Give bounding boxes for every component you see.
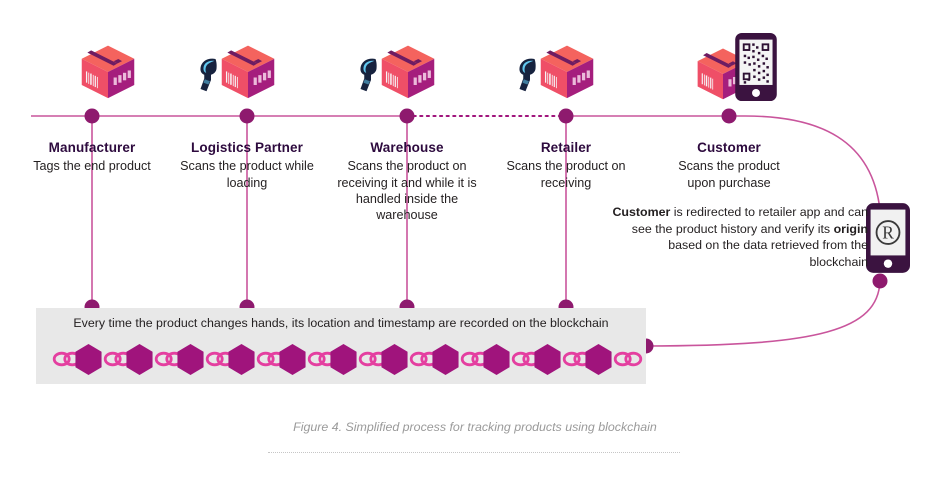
scanner-icon-warehouse <box>360 59 376 92</box>
blockchain-chain-strip <box>36 340 646 380</box>
flow-curve-to-blockchain <box>646 281 880 346</box>
hexagon-block-icon <box>228 344 254 375</box>
stage-title: Customer <box>639 139 819 157</box>
hexagon-block-icon <box>381 344 407 375</box>
stage-desc: Scans the product while loading <box>157 158 337 191</box>
stage-title: Logistics Partner <box>157 139 337 157</box>
package-box-icon-customer <box>698 48 749 99</box>
dot-logistics-partner <box>240 109 255 124</box>
figure-caption: Figure 4. Simplified process for trackin… <box>0 420 950 434</box>
package-box-icon-warehouse <box>382 46 435 99</box>
chain-link-icon <box>615 353 641 365</box>
stage-warehouse: Warehouse Scans the product on receiving… <box>317 139 497 224</box>
package-box-icon-retailer <box>541 46 594 99</box>
hexagon-block-icon <box>126 344 152 375</box>
hexagon-block-icon <box>330 344 356 375</box>
scanner-icon-retailer <box>519 59 535 92</box>
scanner-icon-logistics <box>200 59 216 92</box>
caption-divider <box>268 452 680 453</box>
dot-retailer-app <box>873 274 888 289</box>
customer-note-emphasis: origin <box>834 222 868 236</box>
phone-registered-trademark-icon <box>866 203 910 273</box>
stage-title: Retailer <box>476 139 656 157</box>
stage-customer: Customer Scans the product upon purchase <box>639 139 819 191</box>
dot-retailer <box>559 109 574 124</box>
stage-logistics-partner: Logistics Partner Scans the product whil… <box>157 139 337 191</box>
customer-note-lead: Customer <box>612 205 670 219</box>
stage-title: Warehouse <box>317 139 497 157</box>
hexagon-block-icon <box>534 344 560 375</box>
dot-manufacturer <box>85 109 100 124</box>
phone-qr-icon-customer <box>735 33 777 101</box>
blockchain-bar: Every time the product changes hands, it… <box>36 308 646 384</box>
hexagon-block-icon <box>75 344 101 375</box>
hexagon-block-icon <box>585 344 611 375</box>
package-box-icon-logistics <box>222 46 275 99</box>
stage-desc: Tags the end product <box>2 158 182 174</box>
stage-retailer: Retailer Scans the product on receiving <box>476 139 656 191</box>
dot-warehouse <box>400 109 415 124</box>
timeline-dots <box>85 109 737 124</box>
customer-redirect-note: Customer is redirected to retailer app a… <box>612 204 868 271</box>
blockchain-bar-caption: Every time the product changes hands, it… <box>36 316 646 330</box>
diagram-canvas: R <box>0 0 950 495</box>
hexagon-block-icon <box>279 344 305 375</box>
dot-customer <box>722 109 737 124</box>
stage-desc: Scans the product on receiving it and wh… <box>317 158 497 223</box>
stage-desc: Scans the product on receiving <box>476 158 656 191</box>
package-box-icon-manufacturer <box>82 46 135 99</box>
stage-manufacturer: Manufacturer Tags the end product <box>2 139 182 175</box>
customer-note-text-2: based on the data retrieved from the blo… <box>668 238 868 269</box>
stage-desc: Scans the product upon purchase <box>639 158 819 191</box>
stage-title: Manufacturer <box>2 139 182 157</box>
hexagon-block-icon <box>177 344 203 375</box>
hexagon-block-icon <box>483 344 509 375</box>
hexagon-block-icon <box>432 344 458 375</box>
